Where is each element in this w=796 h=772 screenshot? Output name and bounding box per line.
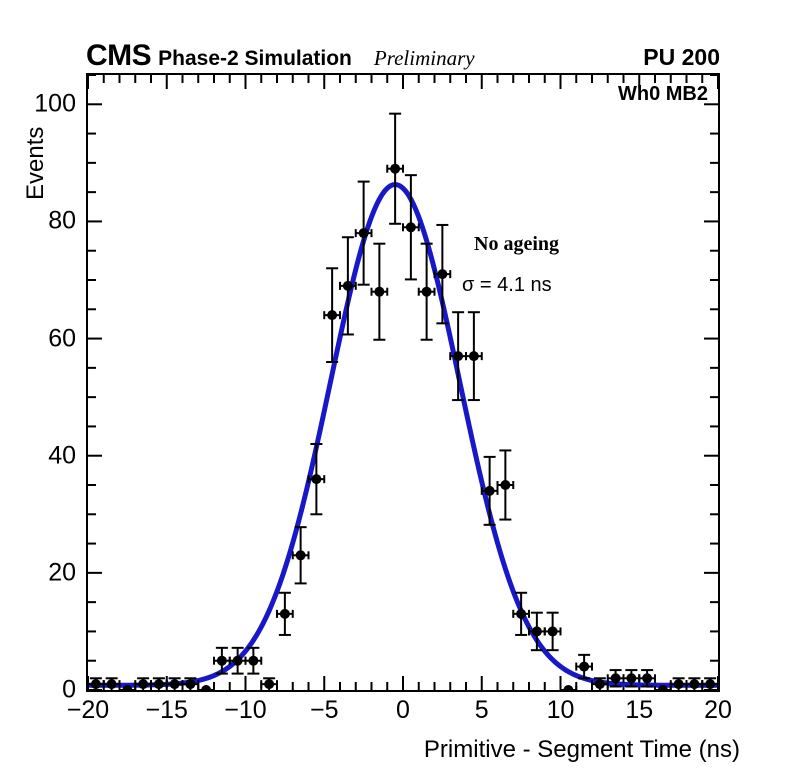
data-point <box>482 457 498 525</box>
data-point <box>88 678 104 690</box>
sigma-annotation: σ = 4.1 ns <box>462 274 552 297</box>
data-point <box>261 678 277 690</box>
data-point <box>687 678 703 690</box>
x-tick-label: 10 <box>547 696 575 725</box>
cms-logo: CMS <box>86 41 151 71</box>
x-axis-title: Primitive - Segment Time (ns) <box>0 736 740 764</box>
data-point <box>372 244 388 340</box>
x-tick-label: 5 <box>475 696 489 725</box>
data-point <box>104 678 120 690</box>
x-tick-label: −15 <box>146 696 188 725</box>
data-point <box>435 225 451 323</box>
data-point <box>309 444 325 514</box>
data-point <box>151 678 167 690</box>
cms-subtitle: Phase-2 Simulation <box>158 48 352 69</box>
plot-graphics <box>88 75 718 690</box>
data-point <box>198 685 214 690</box>
plot-canvas: CMS Phase-2 Simulation Preliminary PU 20… <box>0 0 796 772</box>
data-point <box>135 678 151 690</box>
chamber-label: Wh0 MB2 <box>618 83 708 106</box>
data-points <box>88 114 718 690</box>
y-tick-label: 40 <box>20 441 76 470</box>
x-tick-label: 15 <box>625 696 653 725</box>
data-point <box>167 678 183 690</box>
x-tick-label: 20 <box>704 696 732 725</box>
y-tick-label: 20 <box>20 558 76 587</box>
y-tick-label: 60 <box>20 324 76 353</box>
data-point <box>702 678 718 690</box>
y-axis-title: Events <box>22 127 50 200</box>
cms-header: CMS Phase-2 Simulation Preliminary PU 20… <box>86 41 720 71</box>
y-tick-label: 80 <box>20 207 76 236</box>
gaussian-fit-curve <box>88 185 718 686</box>
plot-frame: Wh0 MB2 No ageing σ = 4.1 ns <box>86 73 720 692</box>
data-point <box>387 114 403 224</box>
x-tick-label: 0 <box>396 696 410 725</box>
data-point <box>561 685 577 690</box>
data-point <box>450 312 466 400</box>
data-point <box>498 450 514 519</box>
cms-preliminary-label: Preliminary <box>374 48 475 69</box>
x-tick-label: −5 <box>310 696 339 725</box>
data-point <box>277 593 293 635</box>
data-point <box>466 312 482 400</box>
pileup-label: PU 200 <box>643 46 720 69</box>
ageing-annotation: No ageing <box>474 233 559 256</box>
data-point <box>545 613 561 650</box>
y-tick-label: 100 <box>20 90 76 119</box>
y-tick-label: 0 <box>20 676 76 705</box>
x-tick-label: −10 <box>224 696 266 725</box>
data-point <box>671 678 687 690</box>
